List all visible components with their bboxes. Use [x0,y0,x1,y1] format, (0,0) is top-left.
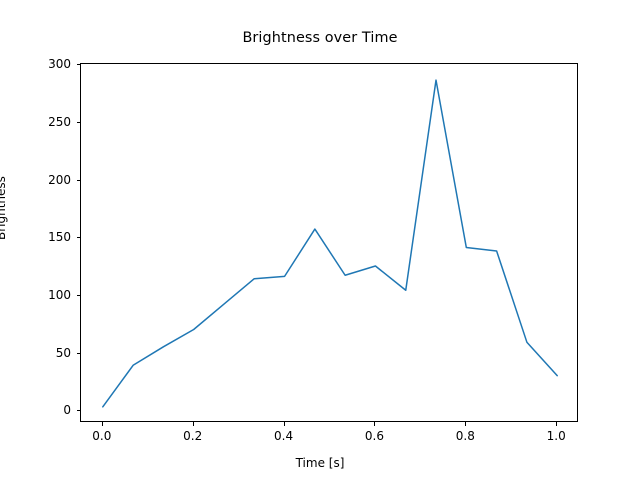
y-tick-mark [77,64,81,65]
x-tick-mark [102,422,103,426]
y-tick-label: 300 [0,57,71,71]
x-tick-label: 0.0 [92,429,111,443]
y-axis-label: Brightness [0,176,8,240]
y-tick-label: 0 [0,403,71,417]
page-title: Brightness over Time [0,30,640,47]
y-tick-label: 250 [0,115,71,129]
y-tick-label: 150 [0,230,71,244]
line-series-svg [81,64,579,423]
brightness-line [103,80,557,407]
y-tick-mark [77,180,81,181]
x-tick-label: 0.2 [183,429,202,443]
y-tick-mark [77,237,81,238]
y-tick-label: 100 [0,288,71,302]
y-tick-mark [77,295,81,296]
y-tick-label: 50 [0,346,71,360]
x-tick-label: 1.0 [547,429,566,443]
x-axis-label: Time [s] [0,456,640,470]
x-tick-mark [465,422,466,426]
plot-axes [80,63,578,422]
x-tick-label: 0.4 [274,429,293,443]
x-tick-mark [193,422,194,426]
figure-canvas: Brightness over Time 050100150200250300 … [0,0,640,480]
x-tick-mark [284,422,285,426]
y-tick-mark [77,410,81,411]
x-tick-label: 0.8 [456,429,475,443]
y-tick-label: 200 [0,173,71,187]
y-tick-mark [77,353,81,354]
y-tick-mark [77,122,81,123]
x-tick-mark [556,422,557,426]
x-tick-label: 0.6 [365,429,384,443]
x-tick-mark [374,422,375,426]
